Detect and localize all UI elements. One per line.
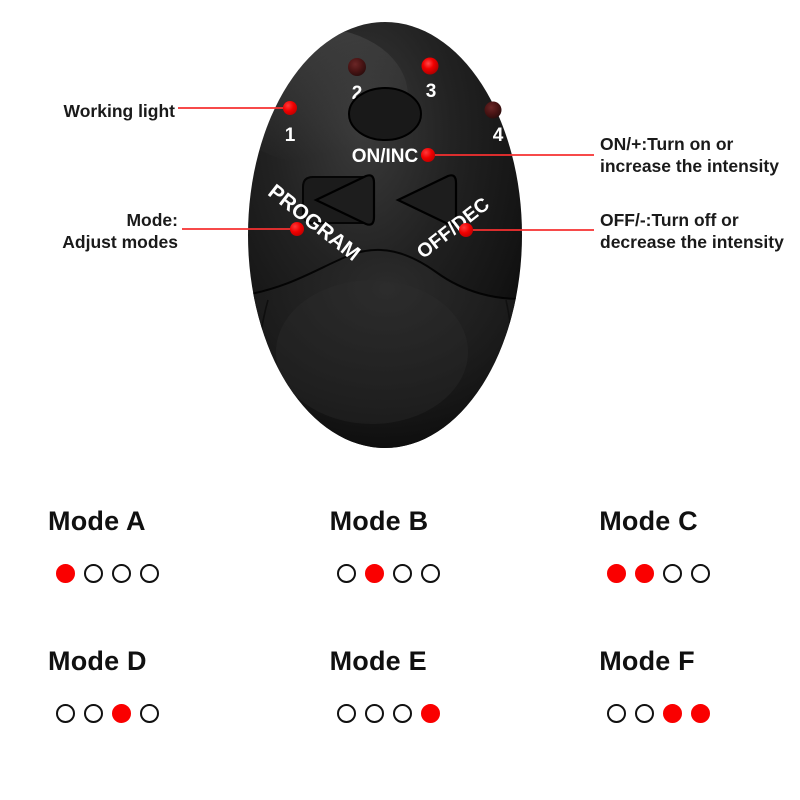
mode-item-c: Mode C — [533, 506, 800, 646]
mode-dot-f-4 — [691, 704, 710, 723]
mode-dot-d-1 — [56, 704, 75, 723]
led-2 — [348, 58, 366, 76]
led-label-1: 1 — [285, 125, 296, 146]
device-illustration: 1 2 3 4 ON/INC PROGRAM OFF/DEC — [0, 0, 800, 490]
mode-dot-c-1 — [607, 564, 626, 583]
mode-item-f: Mode F — [533, 646, 800, 786]
mode-dot-b-4 — [421, 564, 440, 583]
led-4 — [485, 102, 502, 119]
led-label-3: 3 — [426, 81, 437, 102]
mode-dot-c-4 — [691, 564, 710, 583]
mode-label-c: Mode C — [599, 506, 698, 537]
callout-on-inc-line-2: increase the intensity — [600, 155, 779, 177]
mode-dots-c — [607, 564, 710, 583]
mode-dot-b-3 — [393, 564, 412, 583]
callout-working-light: Working light — [20, 100, 175, 122]
mode-dot-a-4 — [140, 564, 159, 583]
led-3 — [422, 58, 439, 75]
mode-dot-d-3 — [112, 704, 131, 723]
mode-dot-f-1 — [607, 704, 626, 723]
mode-dot-e-1 — [337, 704, 356, 723]
mode-label-b: Mode B — [330, 506, 429, 537]
mode-label-d: Mode D — [48, 646, 147, 677]
mode-row: Mode A Mode B Mode C — [0, 506, 800, 646]
mode-item-e: Mode E — [267, 646, 534, 786]
mode-item-d: Mode D — [0, 646, 267, 786]
anchor-dot-mode — [290, 222, 304, 236]
mode-dot-f-2 — [635, 704, 654, 723]
mode-dot-e-3 — [393, 704, 412, 723]
callout-off-dec-line-1: OFF/-:Turn off or — [600, 209, 784, 231]
callout-on-inc-line-1: ON/+:Turn on or — [600, 133, 779, 155]
mode-label-e: Mode E — [330, 646, 427, 677]
mode-item-a: Mode A — [0, 506, 267, 646]
callout-off-dec: OFF/-:Turn off or decrease the intensity — [600, 209, 784, 254]
mode-dot-d-2 — [84, 704, 103, 723]
power-button[interactable] — [349, 88, 421, 140]
callout-working-light-line-1: Working light — [20, 100, 175, 122]
anchor-dot-off-dec — [459, 223, 473, 237]
callout-on-inc: ON/+:Turn on or increase the intensity — [600, 133, 779, 178]
mode-dots-f — [607, 704, 710, 723]
body-lower-highlight — [276, 280, 468, 424]
led-label-4: 4 — [493, 125, 504, 146]
mode-dots-e — [337, 704, 440, 723]
callout-mode-line-1: Mode: — [10, 209, 178, 231]
mode-legend: Mode A Mode B Mode C — [0, 498, 800, 798]
callout-off-dec-line-2: decrease the intensity — [600, 231, 784, 253]
mode-dot-b-2 — [365, 564, 384, 583]
mode-dots-a — [56, 564, 159, 583]
mode-dot-a-3 — [112, 564, 131, 583]
mode-dot-c-2 — [635, 564, 654, 583]
mode-label-a: Mode A — [48, 506, 146, 537]
mode-dot-a-1 — [56, 564, 75, 583]
mode-dot-e-2 — [365, 704, 384, 723]
mode-item-b: Mode B — [267, 506, 534, 646]
anchor-dot-working-light — [283, 101, 297, 115]
mode-dot-d-4 — [140, 704, 159, 723]
on-inc-label: ON/INC — [352, 146, 419, 167]
mode-dot-b-1 — [337, 564, 356, 583]
mode-label-f: Mode F — [599, 646, 695, 677]
product-diagram-page: 1 2 3 4 ON/INC PROGRAM OFF/DEC — [0, 0, 800, 800]
mode-dots-b — [337, 564, 440, 583]
anchor-dot-on-inc — [421, 148, 435, 162]
mode-dot-e-4 — [421, 704, 440, 723]
mode-dots-d — [56, 704, 159, 723]
mode-dot-a-2 — [84, 564, 103, 583]
callout-mode-line-2: Adjust modes — [10, 231, 178, 253]
mode-row: Mode D Mode E Mode F — [0, 646, 800, 786]
callout-mode: Mode: Adjust modes — [10, 209, 178, 254]
mode-dot-f-3 — [663, 704, 682, 723]
mode-dot-c-3 — [663, 564, 682, 583]
